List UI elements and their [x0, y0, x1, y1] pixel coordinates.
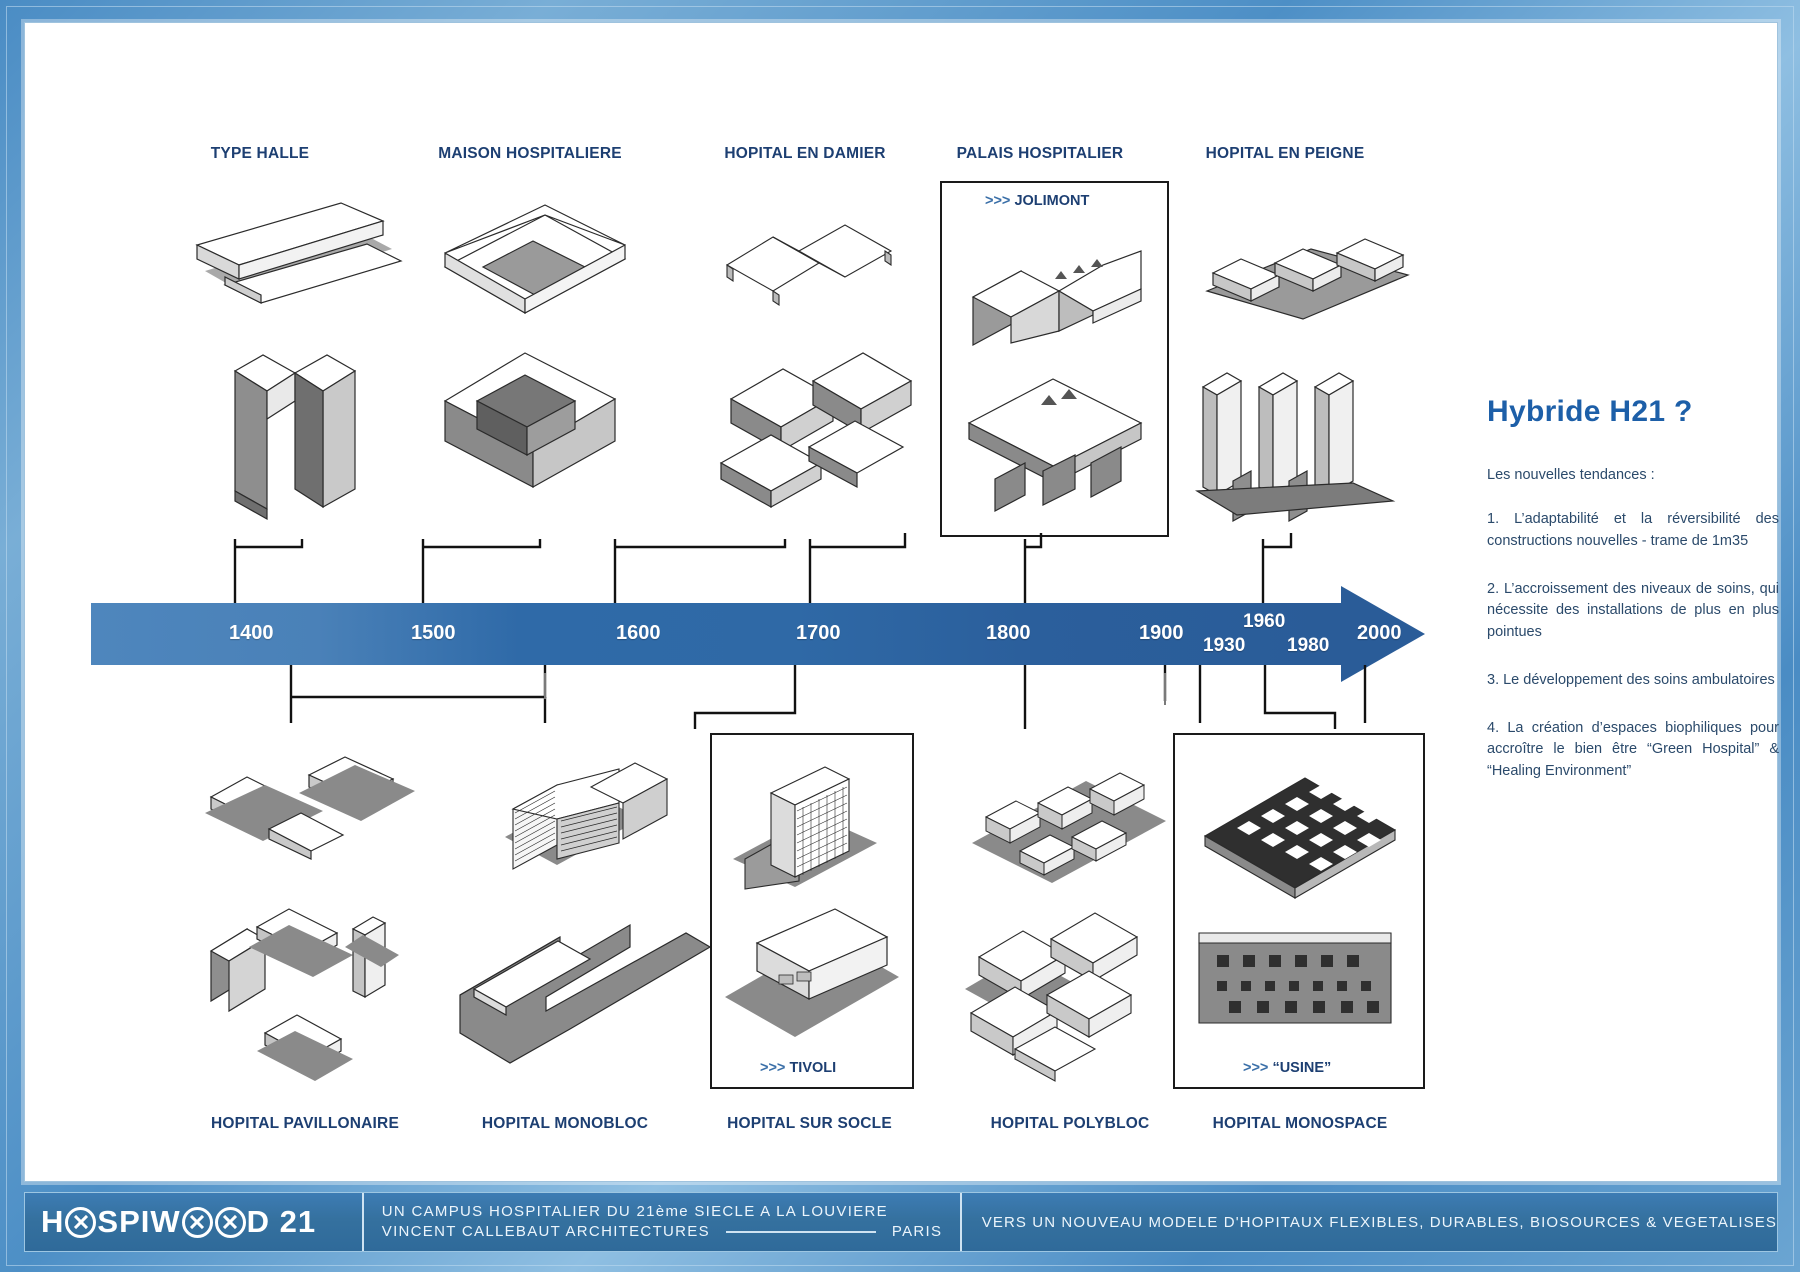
- model-hopital-damier-plan: [705, 335, 925, 535]
- model-polybloc-3d: [960, 759, 1180, 889]
- callout-arrow-icon: >>>: [985, 193, 1010, 209]
- caption-hopital-monobloc: HOPITAL MONOBLOC: [445, 1115, 685, 1133]
- logo-text-a: H: [41, 1204, 64, 1240]
- timeline-year-1600: 1600: [616, 622, 661, 645]
- timeline-year-1900: 1900: [1139, 622, 1184, 645]
- caption-hopital-sur-socle: HOPITAL SUR SOCLE: [697, 1115, 922, 1133]
- logo-crossed-o-icon-3: [215, 1207, 246, 1238]
- footer-architect: VINCENT CALLEBAUT ARCHITECTURES: [382, 1222, 710, 1242]
- model-polybloc-plan: [955, 903, 1175, 1083]
- trend-item-3: 3. Le développement des soins ambulatoir…: [1487, 670, 1779, 692]
- hospiwood-logo: H SPIW D 21: [41, 1204, 316, 1240]
- timeline-year-1980: 1980: [1287, 635, 1329, 657]
- logo-text-c: D 21: [247, 1204, 316, 1240]
- caption-hopital-en-peigne: HOPITAL EN PEIGNE: [1165, 145, 1405, 163]
- callout-usine: >>> “USINE”: [1243, 1060, 1331, 1076]
- callout-arrow-icon-2: >>>: [760, 1060, 785, 1076]
- model-monobloc-plan: [450, 903, 720, 1083]
- model-type-halle-3d: [187, 199, 417, 309]
- timeline-year-1930: 1930: [1203, 635, 1245, 657]
- timeline-year-1800: 1800: [986, 622, 1031, 645]
- footer-tagline: VERS UN NOUVEAU MODELE D'HOPITAUX FLEXIB…: [982, 1214, 1777, 1231]
- footer-line-1: UN CAMPUS HOSPITALIER DU 21ème SIECLE A …: [382, 1202, 960, 1222]
- model-sur-socle-3d: [725, 763, 900, 893]
- caption-hopital-monospace: HOPITAL MONOSPACE: [1180, 1115, 1420, 1133]
- timeline-year-2000: 2000: [1357, 622, 1402, 645]
- footer-logo-cell: H SPIW D 21: [25, 1193, 364, 1251]
- caption-maison-hospitaliere: MAISON HOSPITALIERE: [405, 145, 655, 163]
- callout-jolimont: >>> JOLIMONT: [985, 193, 1089, 209]
- panel-lead: Les nouvelles tendances :: [1487, 467, 1779, 483]
- model-maison-hospitaliere-3d: [425, 205, 645, 315]
- panel-title: Hybride H21 ?: [1487, 395, 1779, 429]
- footer-tagline-cell: VERS UN NOUVEAU MODELE D'HOPITAUX FLEXIB…: [962, 1193, 1777, 1251]
- logo-text-b: SPIW: [97, 1204, 180, 1240]
- timeline-year-1400: 1400: [229, 622, 274, 645]
- trend-item-4: 4. La création d’espaces biophiliques po…: [1487, 718, 1779, 783]
- callout-usine-label: “USINE”: [1272, 1060, 1331, 1076]
- footer-bar: H SPIW D 21 UN CAMPUS HOSPITALIER DU 21è…: [24, 1192, 1778, 1252]
- model-type-halle-plan: [205, 341, 385, 531]
- model-monospace-3d: [1191, 758, 1406, 893]
- caption-hopital-polybloc: HOPITAL POLYBLOC: [955, 1115, 1185, 1133]
- poster-sheet: TYPE HALLE MAISON HOSPITALIERE HOPITAL E…: [24, 22, 1778, 1182]
- model-monobloc-3d: [495, 753, 695, 883]
- model-maison-hospitaliere-plan: [425, 335, 635, 535]
- model-sur-socle-plan: [717, 903, 907, 1053]
- timeline-year-1700: 1700: [796, 622, 841, 645]
- caption-type-halle: TYPE HALLE: [180, 145, 340, 163]
- right-panel: Hybride H21 ? Les nouvelles tendances : …: [1487, 395, 1779, 809]
- footer-credits: UN CAMPUS HOSPITALIER DU 21ème SIECLE A …: [364, 1193, 962, 1251]
- footer-rule: [726, 1231, 876, 1233]
- footer-line-2: VINCENT CALLEBAUT ARCHITECTURES PARIS: [382, 1222, 960, 1242]
- logo-crossed-o-icon-2: [182, 1207, 213, 1238]
- callout-arrow-icon-3: >>>: [1243, 1060, 1268, 1076]
- poster-frame: TYPE HALLE MAISON HOSPITALIERE HOPITAL E…: [0, 0, 1800, 1272]
- timeline-year-1500: 1500: [411, 622, 456, 645]
- model-hopital-damier-3d: [715, 215, 905, 305]
- model-hopital-peigne-3d: [1193, 223, 1418, 323]
- caption-hopital-en-damier: HOPITAL EN DAMIER: [690, 145, 920, 163]
- timeline-year-1960: 1960: [1243, 611, 1285, 633]
- callout-jolimont-label: JOLIMONT: [1014, 193, 1089, 209]
- model-pavillonaire-3d: [203, 749, 423, 859]
- callout-tivoli: >>> TIVOLI: [760, 1060, 836, 1076]
- model-palais-hospitalier-3d: [963, 231, 1153, 351]
- footer-city: PARIS: [892, 1222, 942, 1242]
- model-monospace-plan: [1191, 903, 1406, 1048]
- callout-tivoli-label: TIVOLI: [789, 1060, 836, 1076]
- caption-palais-hospitalier: PALAIS HOSPITALIER: [920, 145, 1160, 163]
- model-hopital-peigne-plan: [1193, 343, 1408, 533]
- trend-item-1: 1. L’adaptabilité et la réversibilité de…: [1487, 509, 1779, 553]
- model-pavillonaire-plan: [203, 885, 403, 1085]
- trend-item-2: 2. L’accroissement des niveaux de soins,…: [1487, 579, 1779, 644]
- caption-hopital-pavillonaire: HOPITAL PAVILLONAIRE: [175, 1115, 435, 1133]
- model-palais-hospitalier-plan: [955, 371, 1155, 521]
- timeline: 1400 1500 1600 1700 1800 1900 1930 1960 …: [91, 603, 1411, 665]
- logo-crossed-o-icon-1: [65, 1207, 96, 1238]
